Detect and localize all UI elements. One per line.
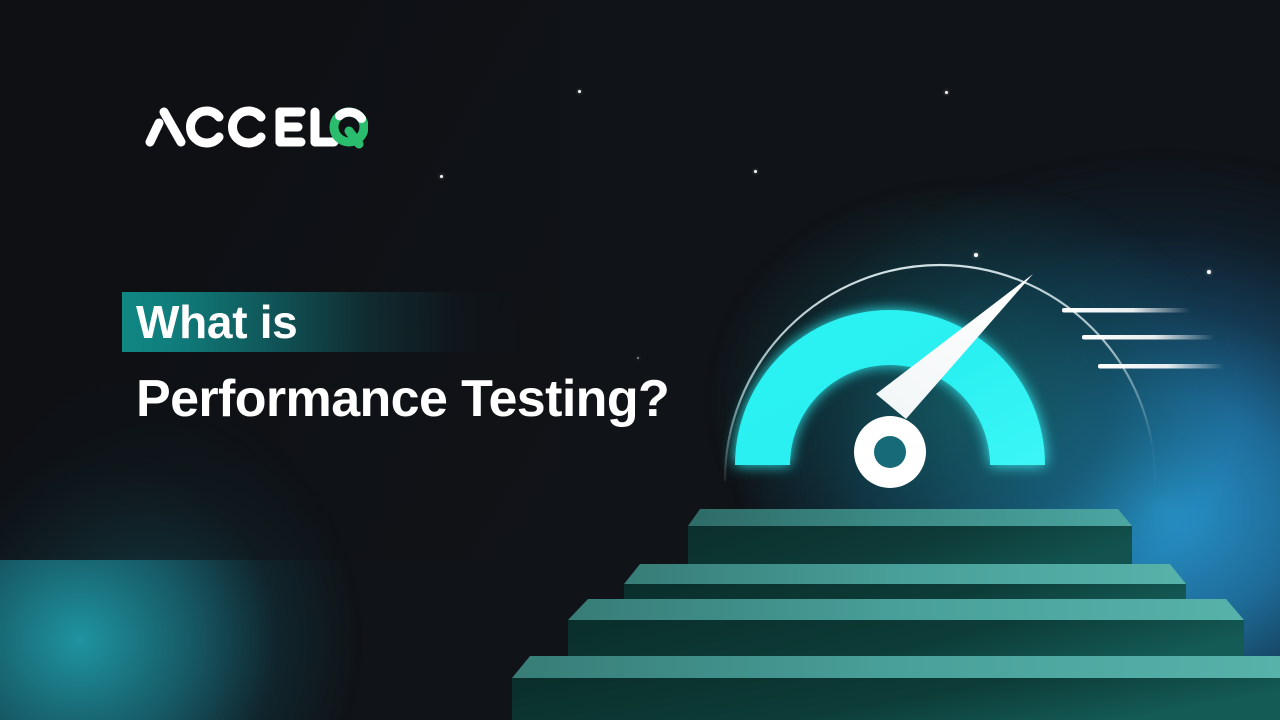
speedometer-graphic [690,180,1230,520]
banner-canvas: What is Performance Testing? [0,0,1280,720]
gauge-speed-lines [1062,308,1224,369]
star-dot [578,90,581,93]
headline-highlight-band: What is [0,292,720,352]
accelq-logo-mark [130,98,368,154]
background-vignette-left [0,0,560,560]
headline-block: What is Performance Testing? [0,292,720,427]
headline-line-1: What is [0,299,297,345]
star-dot [945,91,948,94]
accelq-logo[interactable] [130,98,368,154]
stair-step [512,656,1280,720]
star-dot [754,170,757,173]
headline-line-2: Performance Testing? [0,372,720,427]
star-dot [440,175,443,178]
stairs-graphic [0,480,1280,720]
